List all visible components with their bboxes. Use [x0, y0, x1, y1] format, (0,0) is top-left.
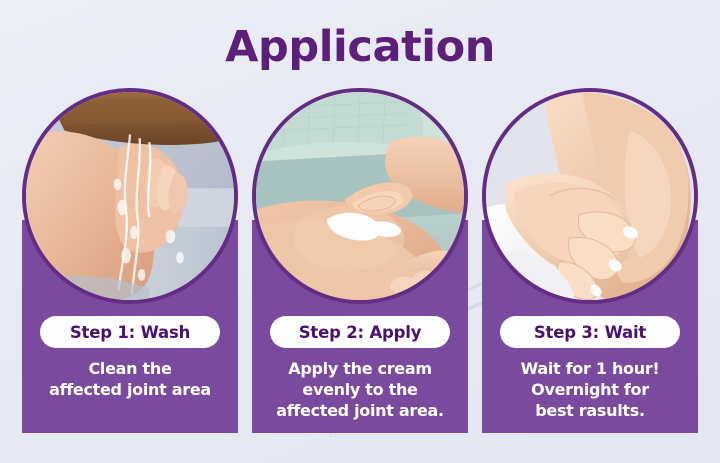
- photo-applying-cream-to-knee: [252, 88, 468, 304]
- desc-line: Overnight for: [490, 379, 690, 400]
- page-title: Application: [0, 22, 720, 72]
- desc-line: Apply the cream: [260, 358, 460, 379]
- step-card-1[interactable]: Step 1: Wash Clean the affected joint ar…: [22, 88, 238, 433]
- desc-line: affected joint area.: [260, 400, 460, 421]
- photo-water-rinsing-shoulder: [22, 88, 238, 304]
- steps-row: Step 1: Wash Clean the affected joint ar…: [22, 88, 698, 433]
- step-description-3: Wait for 1 hour! Overnight for best rasu…: [490, 358, 690, 421]
- step-pill-1: Step 1: Wash: [40, 316, 220, 348]
- desc-line: Clean the: [30, 358, 230, 379]
- step-card-2[interactable]: Step 2: Apply Apply the cream evenly to …: [252, 88, 468, 433]
- step-card-3[interactable]: Step 3: Wait Wait for 1 hour! Overnight …: [482, 88, 698, 433]
- step-pill-3: Step 3: Wait: [500, 316, 680, 348]
- photo-hands-resting-on-leg: [482, 88, 698, 304]
- desc-line: best rasults.: [490, 400, 690, 421]
- desc-line: evenly to the: [260, 379, 460, 400]
- step-description-1: Clean the affected joint area: [30, 358, 230, 400]
- step-description-2: Apply the cream evenly to the affected j…: [260, 358, 460, 421]
- step-pill-2: Step 2: Apply: [270, 316, 450, 348]
- desc-line: Wait for 1 hour!: [490, 358, 690, 379]
- desc-line: affected joint area: [30, 379, 230, 400]
